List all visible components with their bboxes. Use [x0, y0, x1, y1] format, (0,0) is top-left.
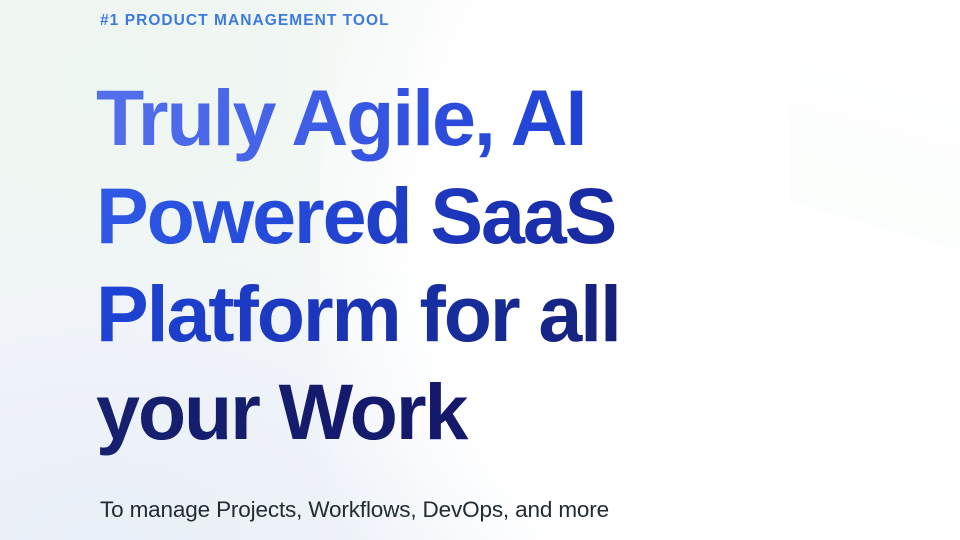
hero-section: #1 PRODUCT MANAGEMENT TOOL Truly Agile, … [0, 0, 960, 540]
hero-subtitle: To manage Projects, Workflows, DevOps, a… [100, 496, 609, 523]
page-title: Truly Agile, AI Powered SaaS Platform fo… [96, 69, 620, 461]
headline-line-2: Powered SaaS [96, 167, 620, 265]
headline-line-4: your Work [96, 363, 620, 461]
hero-content: #1 PRODUCT MANAGEMENT TOOL Truly Agile, … [100, 0, 920, 540]
hero-eyebrow: #1 PRODUCT MANAGEMENT TOOL [100, 13, 390, 29]
headline-line-1: Truly Agile, AI [96, 69, 620, 167]
headline-line-3: Platform for all [96, 265, 620, 363]
